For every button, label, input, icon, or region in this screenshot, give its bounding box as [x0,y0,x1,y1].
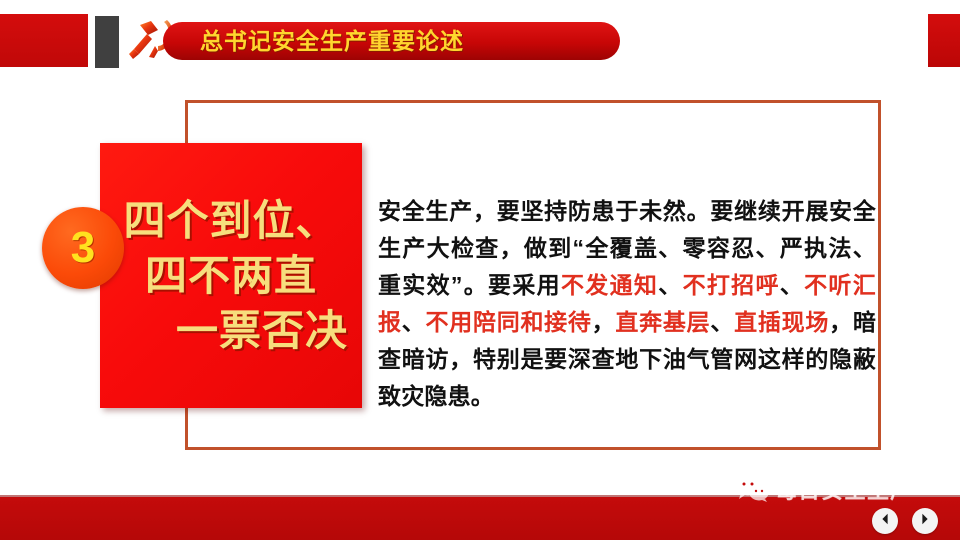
body-highlight-span: 不用陪同和接待 [426,309,592,335]
watermark: 每日安全生产 [735,473,913,505]
header-left-accent-bar [0,14,88,67]
next-slide-button[interactable] [912,508,938,534]
body-plain-span: 、 [780,272,804,298]
watermark-text: 每日安全生产 [775,473,913,505]
body-highlight-span: 不打招呼 [683,272,780,298]
wechat-icon [735,476,769,502]
body-plain-span: 、 [402,309,426,335]
title-line-1: 四个到位、 [123,193,338,248]
body-highlight-span: 直奔基层 [615,309,710,335]
body-plain-span: ， [592,309,616,335]
body-plain-span: 、 [710,309,734,335]
body-paragraph: 安全生产，要坚持防患于未然。要继续开展安全生产大检查，做到“全覆盖、零容忍、严执… [378,193,876,415]
step-number-value: 3 [71,226,95,270]
body-highlight-span: 直插现场 [734,309,829,335]
title-line-2: 四不两直 [145,248,317,303]
key-point-title-box: 四个到位、 四不两直 一票否决 [100,143,362,408]
slide-canvas: 总书记安全生产重要论述 四个到位、 四不两直 一票否决 3 安全生产，要坚持防患… [0,0,960,540]
arrow-left-icon [878,512,892,531]
header-banner-title: 总书记安全生产重要论述 [200,25,464,58]
header-right-accent-block [928,14,960,67]
title-line-3: 一票否决 [176,303,362,358]
arrow-right-icon [918,512,932,531]
body-plain-span: 、 [658,272,682,298]
step-number-badge: 3 [42,207,124,289]
header-gray-accent-block [95,16,119,68]
slide-navigation [872,508,938,534]
prev-slide-button[interactable] [872,508,898,534]
body-highlight-span: 不发通知 [561,272,658,298]
